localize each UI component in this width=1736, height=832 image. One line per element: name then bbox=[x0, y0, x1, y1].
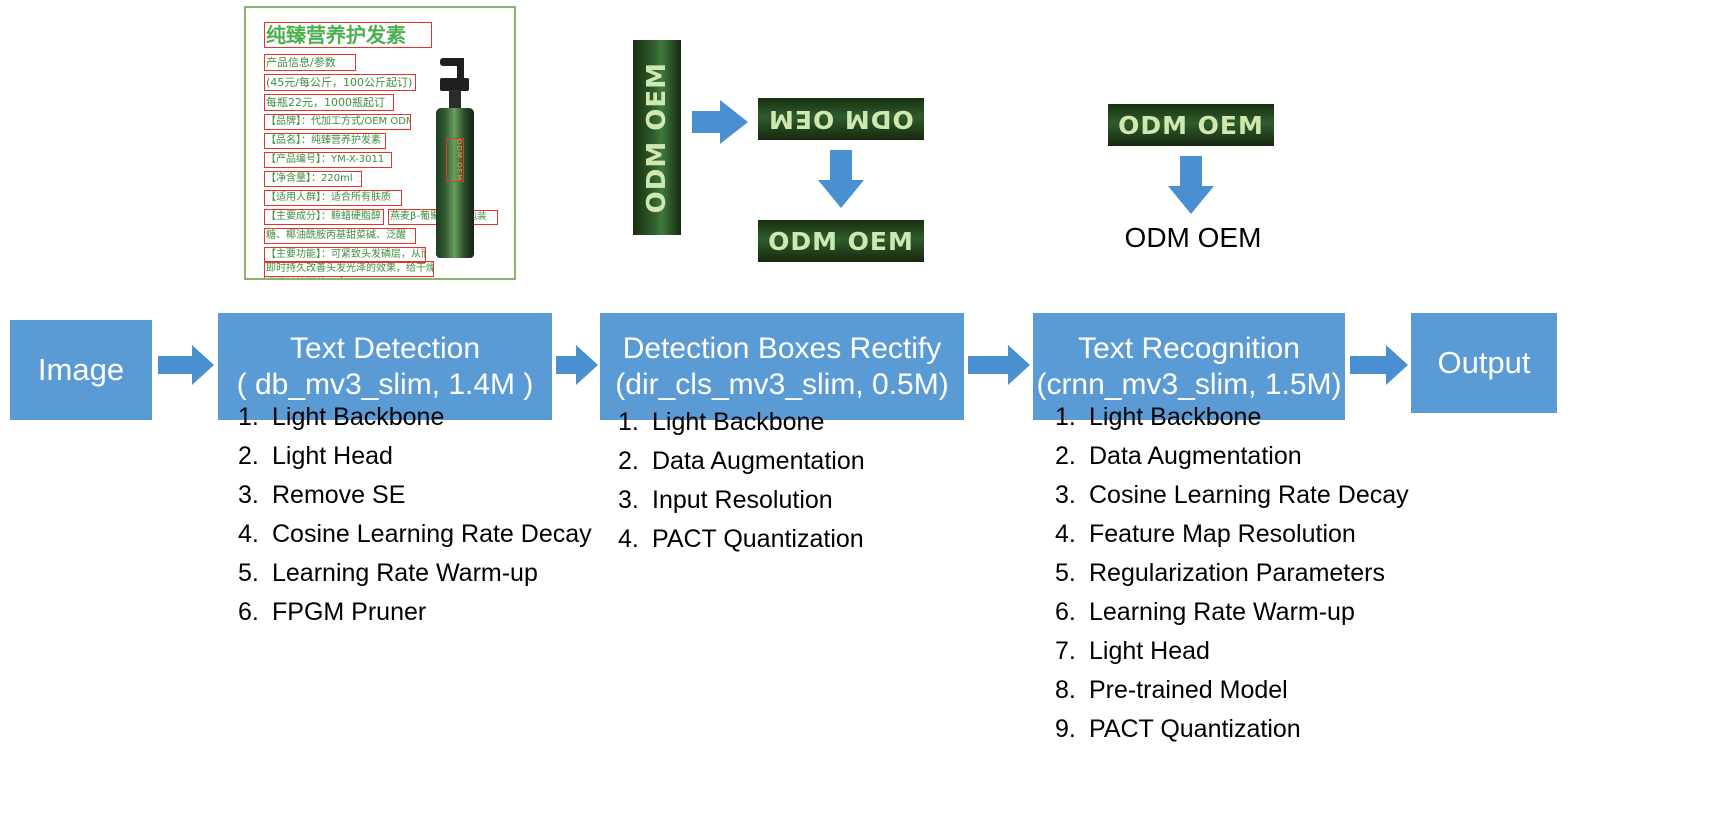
list-item-label: Light Backbone bbox=[1089, 405, 1261, 430]
text-detection-optimization-list: 1. Light Backbone 2. Light Head 3. Remov… bbox=[238, 405, 592, 639]
bottle-label-text: ODM OEM bbox=[446, 138, 464, 182]
list-item-label: Remove SE bbox=[272, 483, 405, 508]
text-recognition-optimization-list: 1. Light Backbone 2. Data Augmentation 3… bbox=[1055, 405, 1409, 756]
rotate-arrow-right-icon bbox=[692, 100, 750, 144]
annotation-box: 【主要成分】：鲸蜡硬脂醇 bbox=[264, 209, 384, 225]
annotation-box: 每瓶22元，1000瓶起订 bbox=[264, 94, 394, 111]
list-item-label: Cosine Learning Rate Decay bbox=[1089, 483, 1409, 508]
annotation-box: 产品信息/参数 bbox=[264, 54, 356, 71]
list-item-number: 1. bbox=[238, 405, 272, 430]
annotation-box: 【品牌】：代加工方式/OEM ODM bbox=[264, 114, 411, 130]
list-item-number: 3. bbox=[1055, 483, 1089, 508]
flipped-text-crop: ODM OEM bbox=[758, 98, 924, 140]
list-item: 4. Feature Map Resolution bbox=[1055, 522, 1409, 547]
list-item: 5. Regularization Parameters bbox=[1055, 561, 1409, 586]
list-item: 1. Light Backbone bbox=[238, 405, 592, 430]
list-item-label: Feature Map Resolution bbox=[1089, 522, 1356, 547]
ocr-sample-image: 纯臻营养护发素 产品信息/参数 (45元/每公斤，100公斤起订) 每瓶22元，… bbox=[244, 6, 516, 280]
vertical-crop-text: ODM OEM bbox=[642, 62, 672, 213]
annotation-box: 发足够的滋养 bbox=[264, 276, 342, 280]
flow-arrow-detection-to-rectify-icon bbox=[556, 345, 598, 385]
recognition-crop-text: ODM OEM bbox=[1118, 111, 1264, 140]
rectify-arrow-down-icon bbox=[818, 150, 864, 210]
list-item-label: Input Resolution bbox=[652, 488, 833, 513]
list-item-number: 4. bbox=[238, 522, 272, 547]
list-item: 9. PACT Quantization bbox=[1055, 717, 1409, 742]
detection-boxes-rectify-optimization-list: 1. Light Backbone 2. Data Augmentation 3… bbox=[618, 410, 865, 566]
list-item-label: Learning Rate Warm-up bbox=[1089, 600, 1355, 625]
list-item-label: Cosine Learning Rate Decay bbox=[272, 522, 592, 547]
stage-title: Detection Boxes Rectify bbox=[623, 331, 941, 366]
list-item-label: Data Augmentation bbox=[1089, 444, 1302, 469]
list-item-number: 2. bbox=[618, 449, 652, 474]
list-item: 4. Cosine Learning Rate Decay bbox=[238, 522, 592, 547]
list-item-label: PACT Quantization bbox=[652, 527, 864, 552]
annotation-box: 【品名】：纯臻营养护发素 bbox=[264, 133, 386, 149]
list-item-label: Pre-trained Model bbox=[1089, 678, 1288, 703]
list-item-label: Light Backbone bbox=[652, 410, 824, 435]
list-item: 1. Light Backbone bbox=[1055, 405, 1409, 430]
pipeline-box-detection-boxes-rectify[interactable]: Detection Boxes Rectify (dir_cls_mv3_sli… bbox=[600, 313, 964, 420]
list-item-number: 2. bbox=[238, 444, 272, 469]
list-item-label: Light Head bbox=[272, 444, 393, 469]
annotation-box: 【产品编号】：YM-X-3011 bbox=[264, 152, 392, 168]
list-item-label: Light Head bbox=[1089, 639, 1210, 664]
list-item: 3. Remove SE bbox=[238, 483, 592, 508]
pipeline-box-output-label: Output bbox=[1437, 345, 1530, 382]
list-item-number: 1. bbox=[618, 410, 652, 435]
list-item-label: Light Backbone bbox=[272, 405, 444, 430]
stage-title: Text Detection bbox=[290, 331, 480, 366]
list-item: 8. Pre-trained Model bbox=[1055, 678, 1409, 703]
annotation-box: (45元/每公斤，100公斤起订) bbox=[264, 74, 416, 91]
annotation-box: 【净含量】：220ml bbox=[264, 171, 362, 187]
list-item: 6. Learning Rate Warm-up bbox=[1055, 600, 1409, 625]
list-item: 2. Data Augmentation bbox=[618, 449, 865, 474]
upright-text-crop: ODM OEM bbox=[758, 220, 924, 262]
stage-model: (crnn_mv3_slim, 1.5M) bbox=[1036, 367, 1341, 402]
recognition-result-text: ODM OEM bbox=[1108, 222, 1278, 254]
flipped-crop-text: ODM OEM bbox=[768, 105, 914, 134]
list-item-number: 3. bbox=[618, 488, 652, 513]
list-item-number: 2. bbox=[1055, 444, 1089, 469]
list-item-number: 7. bbox=[1055, 639, 1089, 664]
list-item-label: Learning Rate Warm-up bbox=[272, 561, 538, 586]
upright-crop-text: ODM OEM bbox=[768, 227, 914, 256]
flow-arrow-rectify-to-recognition-icon bbox=[968, 345, 1030, 385]
flow-arrow-recognition-to-output-icon bbox=[1350, 345, 1408, 385]
list-item-label: PACT Quantization bbox=[1089, 717, 1301, 742]
list-item-number: 5. bbox=[1055, 561, 1089, 586]
list-item-number: 1. bbox=[1055, 405, 1089, 430]
list-item: 1. Light Backbone bbox=[618, 410, 865, 435]
annotation-box: 糖、椰油酰胺丙基甜菜碱、泛醒 bbox=[264, 228, 416, 244]
list-item-label: Data Augmentation bbox=[652, 449, 865, 474]
list-item: 6. FPGM Pruner bbox=[238, 600, 592, 625]
list-item-number: 9. bbox=[1055, 717, 1089, 742]
list-item-number: 3. bbox=[238, 483, 272, 508]
recognition-input-crop: ODM OEM bbox=[1108, 104, 1274, 146]
list-item-number: 5. bbox=[238, 561, 272, 586]
list-item-number: 6. bbox=[1055, 600, 1089, 625]
annotation-box: 【适用人群】：适合所有肤质 bbox=[264, 190, 402, 206]
list-item: 4. PACT Quantization bbox=[618, 527, 865, 552]
recognition-arrow-down-icon bbox=[1168, 156, 1214, 216]
list-item-number: 4. bbox=[1055, 522, 1089, 547]
list-item: 2. Data Augmentation bbox=[1055, 444, 1409, 469]
list-item: 3. Cosine Learning Rate Decay bbox=[1055, 483, 1409, 508]
annotation-title: 纯臻营养护发素 bbox=[264, 22, 432, 48]
diagram-canvas: 纯臻营养护发素 产品信息/参数 (45元/每公斤，100公斤起订) 每瓶22元，… bbox=[0, 0, 1736, 832]
list-item-number: 6. bbox=[238, 600, 272, 625]
list-item-number: 8. bbox=[1055, 678, 1089, 703]
stage-model: ( db_mv3_slim, 1.4M ) bbox=[237, 367, 534, 402]
stage-model: (dir_cls_mv3_slim, 0.5M) bbox=[615, 367, 948, 402]
pipeline-box-image-label: Image bbox=[38, 352, 124, 389]
list-item: 2. Light Head bbox=[238, 444, 592, 469]
list-item-number: 4. bbox=[618, 527, 652, 552]
stage-title: Text Recognition bbox=[1078, 331, 1300, 366]
list-item: 7. Light Head bbox=[1055, 639, 1409, 664]
vertical-text-crop: ODM OEM bbox=[633, 40, 681, 235]
pipeline-box-image[interactable]: Image bbox=[10, 320, 152, 420]
list-item-label: FPGM Pruner bbox=[272, 600, 426, 625]
list-item: 3. Input Resolution bbox=[618, 488, 865, 513]
pipeline-box-output[interactable]: Output bbox=[1411, 313, 1557, 413]
flow-arrow-image-to-detection-icon bbox=[158, 345, 214, 385]
product-bottle-illustration: ODM OEM bbox=[428, 56, 482, 261]
annotation-box: 即时持久改善头发光泽的效果，给干燥的头 bbox=[264, 261, 434, 277]
list-item-label: Regularization Parameters bbox=[1089, 561, 1385, 586]
list-item: 5. Learning Rate Warm-up bbox=[238, 561, 592, 586]
